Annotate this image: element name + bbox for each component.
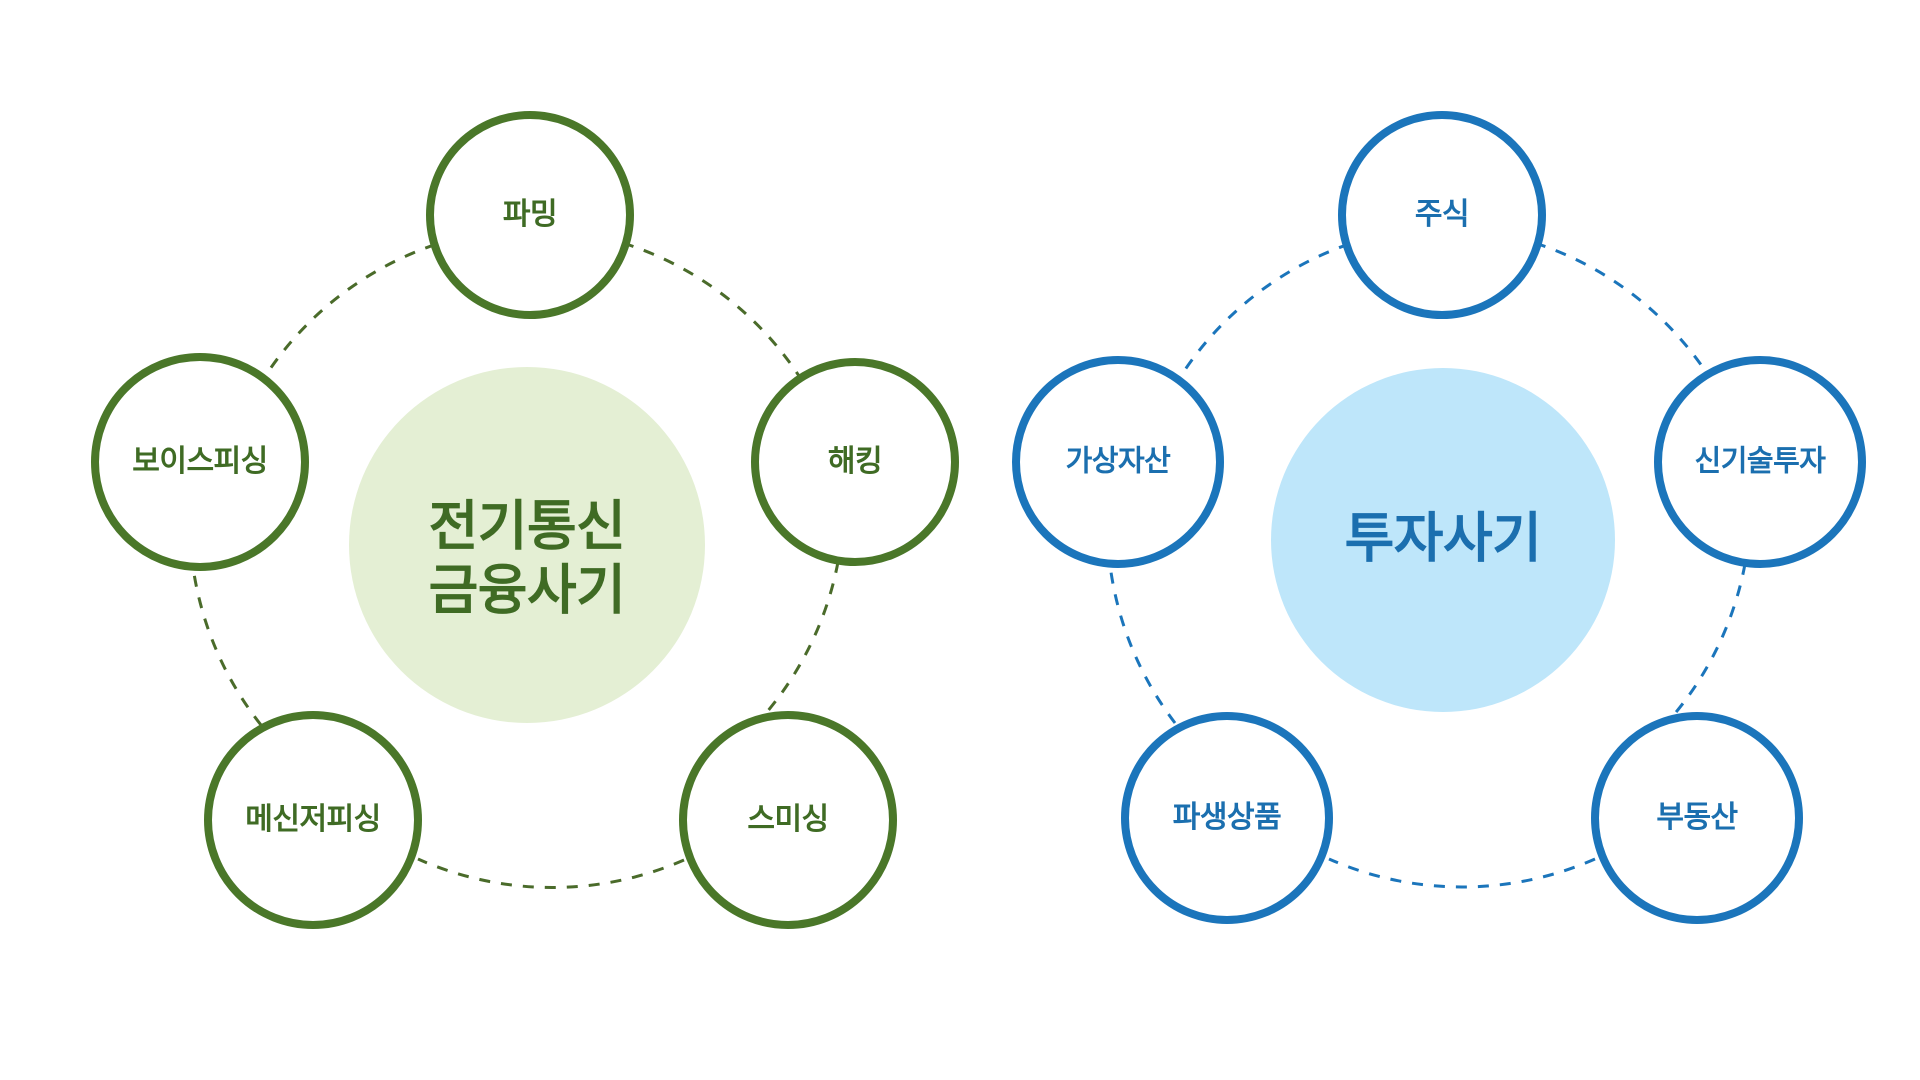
node-label-smishing: 스미싱	[747, 803, 828, 836]
connector-crypto-to-stock	[1174, 243, 1352, 387]
hub-label-telecom-line1: 전기통신	[429, 496, 626, 556]
node-label-messenger-phishing: 메신저피싱	[245, 803, 381, 836]
node-smishing[interactable]: 스미싱	[683, 715, 893, 925]
cluster-investment-fraud: 투자사기 주식 신기술투자 부동산 파생상품	[1016, 115, 1862, 920]
node-label-real-estate: 부동산	[1656, 801, 1738, 834]
node-hacking[interactable]: 해킹	[755, 362, 955, 562]
node-label-virtual-asset: 가상자산	[1066, 445, 1172, 478]
node-label-pharming: 파밍	[503, 198, 557, 231]
hub-label-investment: 투자사기	[1345, 508, 1542, 568]
connector-voice-to-pharming	[259, 243, 440, 386]
node-new-technology-investment[interactable]: 신기술투자	[1658, 360, 1862, 564]
connector-newtech-to-realestate	[1672, 564, 1745, 717]
node-voice-phishing[interactable]: 보이스피싱	[95, 357, 305, 567]
connector-smishing-to-messenger	[418, 859, 684, 887]
node-virtual-asset[interactable]: 가상자산	[1016, 360, 1220, 564]
node-derivatives[interactable]: 파생상품	[1125, 716, 1329, 920]
hub-label-telecom-line2: 금융사기	[429, 560, 626, 620]
node-label-stock: 주식	[1415, 198, 1469, 231]
connector-derivative-to-crypto	[1110, 565, 1175, 723]
connector-hacking-to-smishing	[760, 562, 838, 720]
cluster-telecom-financial-fraud: 전기통신 금융사기 파밍 해킹 스미싱 메신저피싱	[95, 115, 955, 925]
node-pharming[interactable]: 파밍	[430, 115, 630, 315]
node-messenger-phishing[interactable]: 메신저피싱	[208, 715, 418, 925]
node-label-new-technology-investment: 신기술투자	[1695, 445, 1827, 478]
connector-stock-to-newtech	[1535, 243, 1706, 372]
connector-pharming-to-hacking	[623, 243, 801, 379]
node-stock[interactable]: 주식	[1342, 115, 1542, 315]
diagram-canvas: 전기통신 금융사기 파밍 해킹 스미싱 메신저피싱	[0, 0, 1920, 1080]
node-real-estate[interactable]: 부동산	[1595, 716, 1799, 920]
node-label-voice-phishing: 보이스피싱	[132, 445, 268, 478]
node-label-derivatives: 파생상품	[1173, 801, 1281, 834]
connector-realestate-to-derivative	[1329, 859, 1595, 887]
connector-messenger-to-voice	[193, 567, 261, 725]
node-label-hacking: 해킹	[828, 445, 882, 478]
fraud-types-diagram: 전기통신 금융사기 파밍 해킹 스미싱 메신저피싱	[0, 0, 1920, 1080]
